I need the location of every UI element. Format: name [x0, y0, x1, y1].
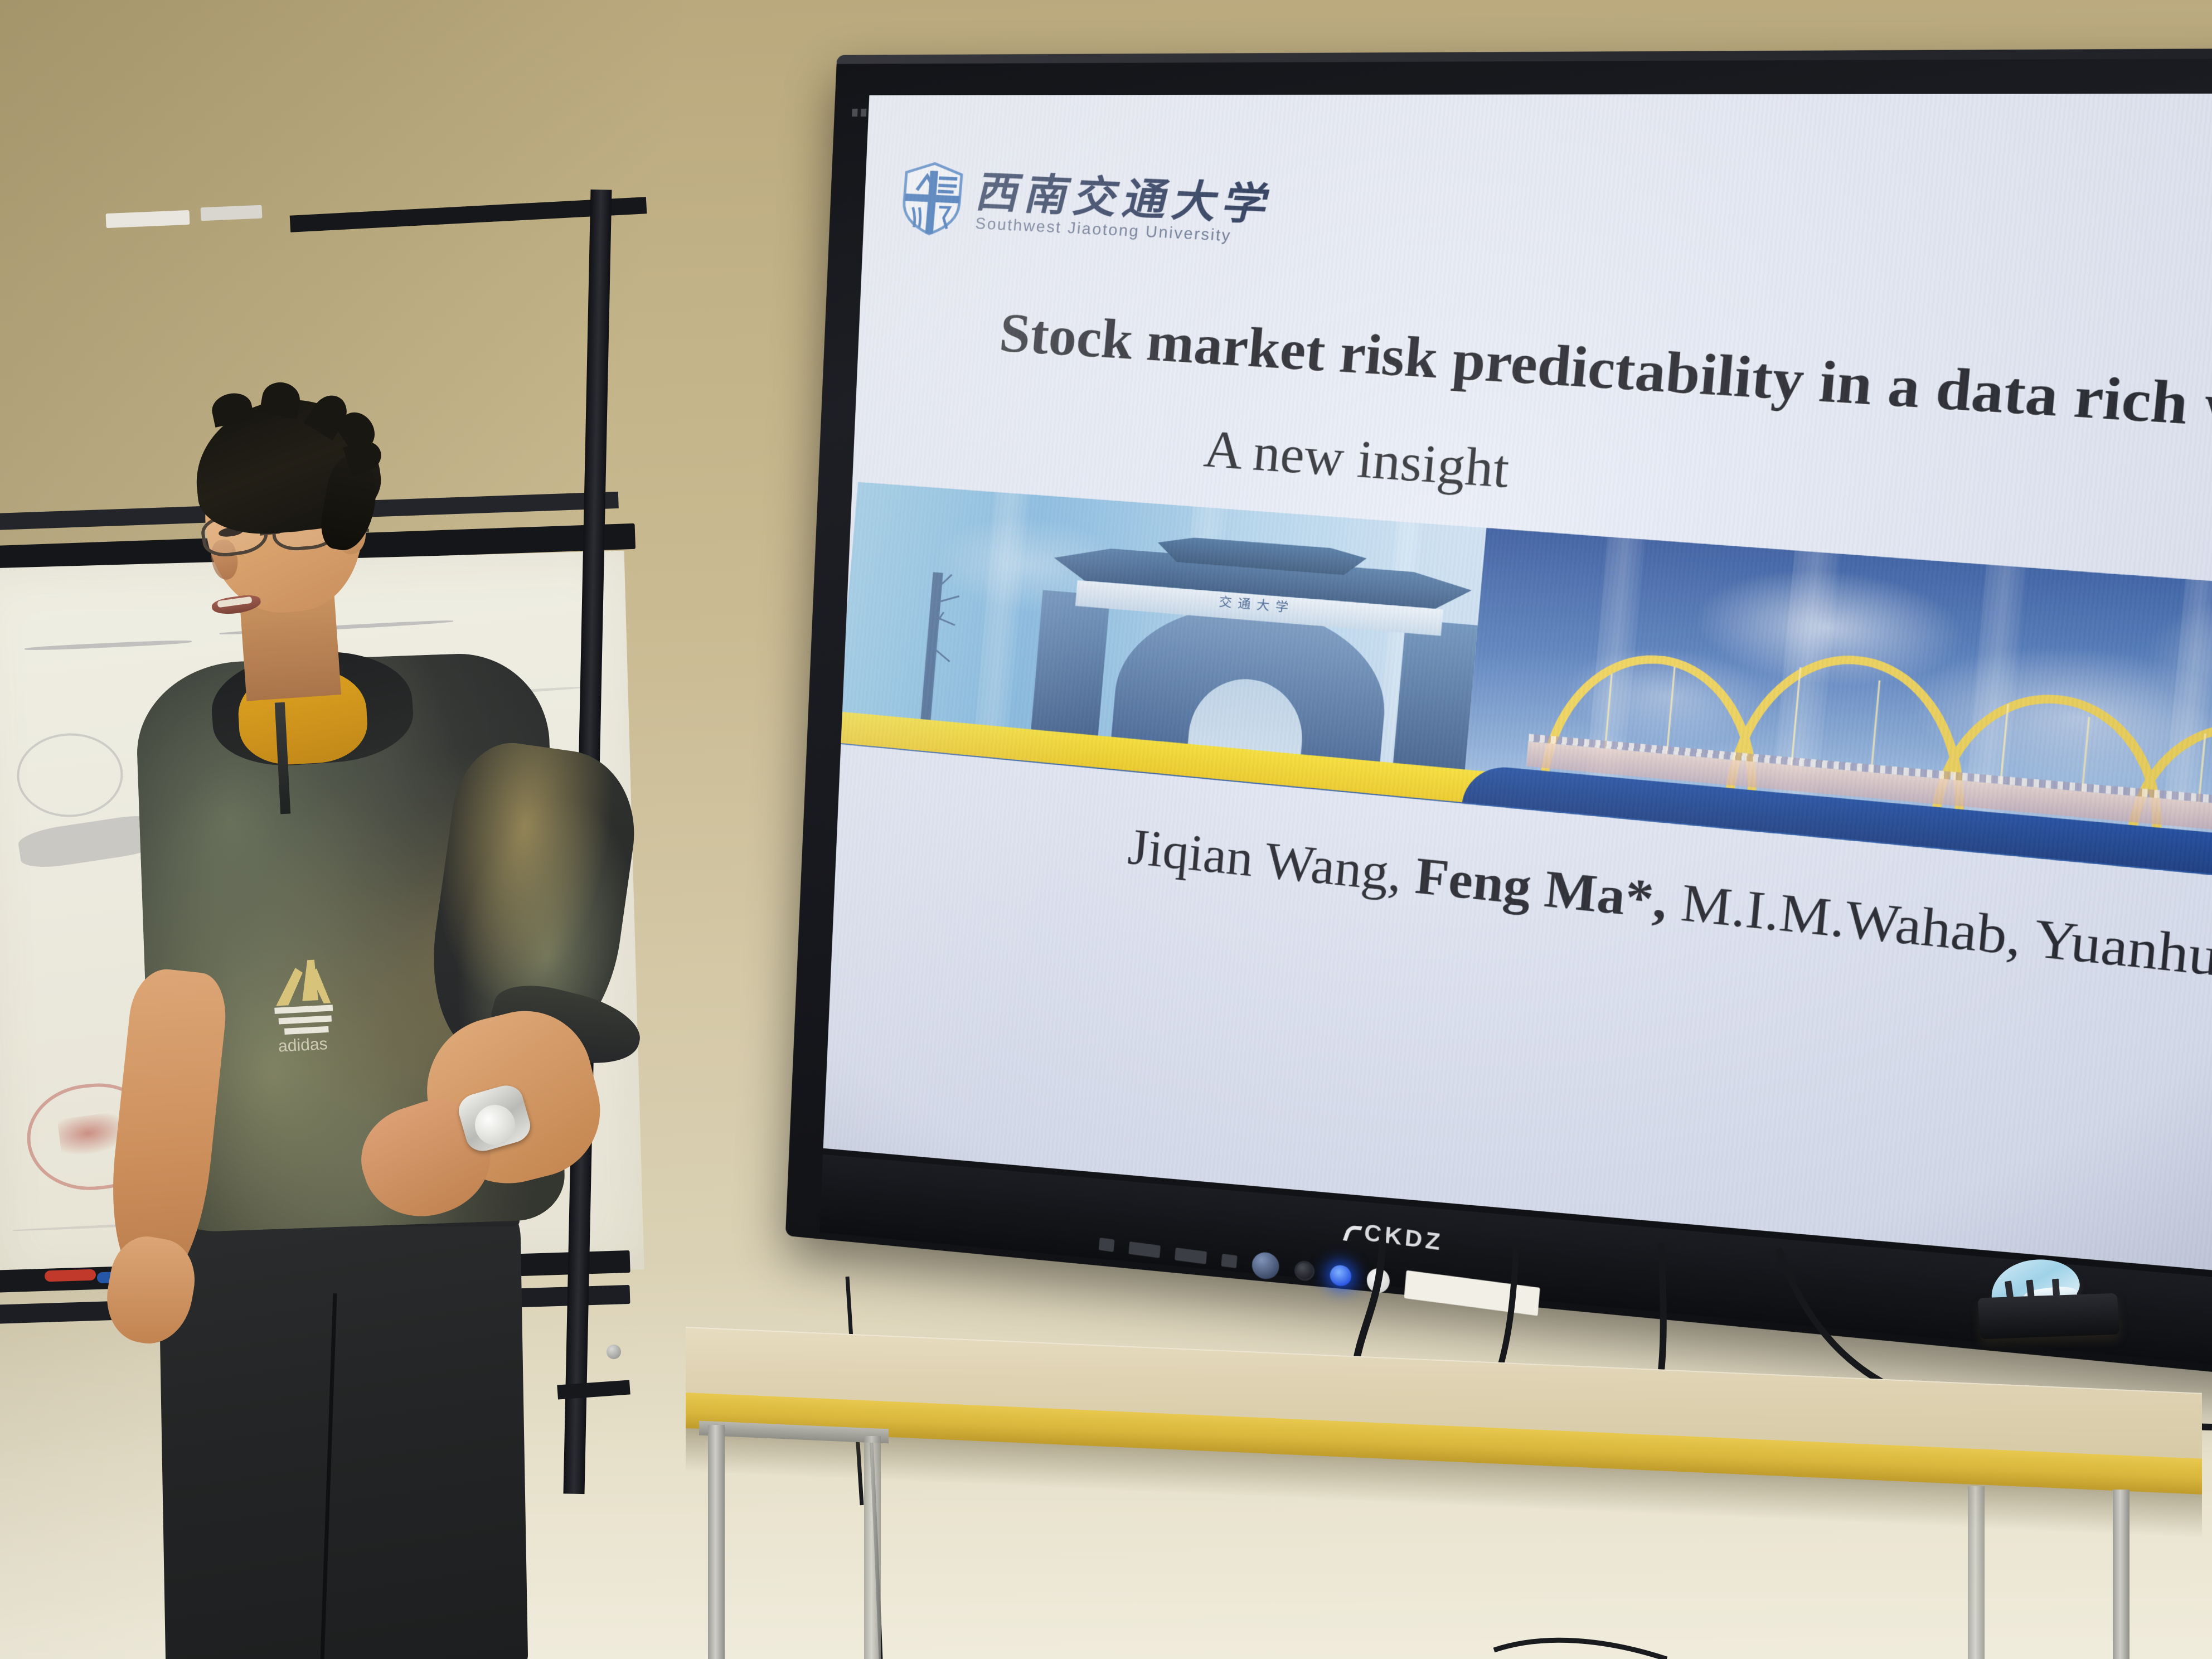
audio-jack[interactable] [1293, 1260, 1315, 1282]
presenter-pants [158, 1190, 528, 1659]
author-list-suffix: M.I.M.Wahab, Yuanhui Ma [1665, 872, 2212, 1000]
table-leg-back-right [1968, 1486, 1985, 1659]
ir-receiver [1366, 1267, 1391, 1294]
usb-port-2[interactable] [1128, 1241, 1161, 1258]
slide-subtitle: A new insight [1202, 418, 1512, 500]
hdmi-port[interactable] [1175, 1248, 1207, 1264]
red-marker[interactable] [45, 1269, 96, 1282]
table-leg-back-left [864, 1436, 881, 1659]
plug-prong-3 [2052, 1279, 2060, 1296]
slide-banner-image: 交通大学 [836, 482, 2212, 889]
usb-port-1[interactable] [1099, 1238, 1115, 1252]
author-corresponding: Feng Ma*, [1413, 847, 1670, 930]
slide-title: Stock market risk predictability in a da… [997, 299, 2212, 453]
university-logo: 西南交通大学 Southwest Jiaotong University [896, 160, 1277, 253]
presentation-slide: 西南交通大学 Southwest Jiaotong University Sto… [823, 94, 2212, 1280]
display-screen[interactable]: 西南交通大学 Southwest Jiaotong University Sto… [823, 94, 2212, 1280]
table-leg-front-right [2113, 1490, 2129, 1659]
author-list-prefix: Jiqian Wang, [1126, 818, 1418, 905]
adidas-trefoil-icon: adidas [254, 945, 365, 1056]
whiteboard-clip-right [201, 205, 263, 221]
interactive-display[interactable]: 西南交通大学 Southwest Jiaotong University Sto… [811, 56, 2212, 1238]
vga-port[interactable] [1221, 1254, 1237, 1268]
logo-chinese-name: 西南交通大学 [973, 171, 1280, 227]
display-bezel: 西南交通大学 Southwest Jiaotong University Sto… [785, 48, 2212, 1386]
presentation-table [686, 1327, 2212, 1659]
menu-knob[interactable] [1251, 1251, 1280, 1281]
presentation-room-scene: 西南交通大学 Southwest Jiaotong University Sto… [0, 0, 2212, 1659]
power-strip[interactable] [1977, 1293, 2119, 1340]
adidas-wordmark: adidas [278, 1035, 328, 1056]
power-led-indicator [1329, 1264, 1352, 1287]
shield-icon [896, 160, 968, 237]
presenter: adidas [128, 390, 741, 1659]
